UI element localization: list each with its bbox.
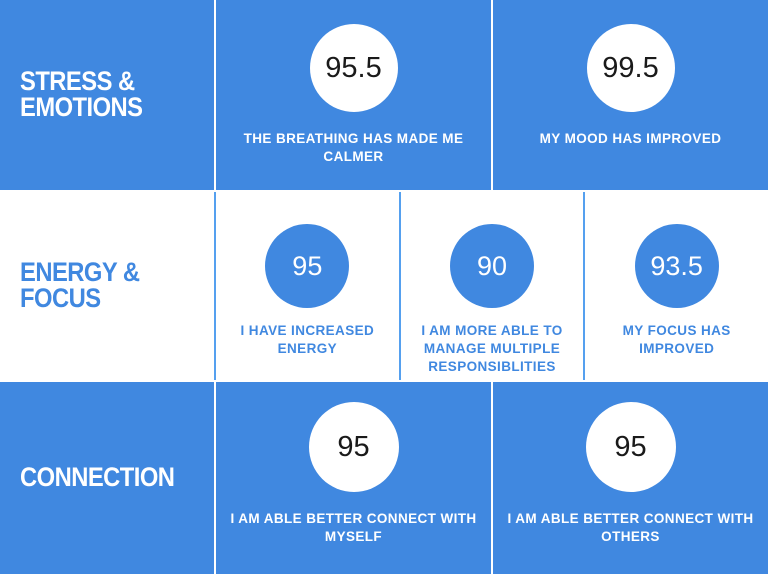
metric-label-focus-improved: MY FOCUS HAS IMPROVED <box>585 322 768 358</box>
metric-circle-connect-others: 95 <box>586 402 676 492</box>
metric-circle-focus-improved: 93.5 <box>635 224 719 308</box>
metric-label-breathing-calmer: THE BREATHING HAS MADE ME CALMER <box>216 130 491 166</box>
metric-card-connect-others: 95 I AM ABLE BETTER CONNECT WITH OTHERS <box>491 382 768 574</box>
metric-value-connect-others: 95 <box>614 433 646 462</box>
metric-card-connect-myself: 95 I AM ABLE BETTER CONNECT WITH MYSELF <box>216 382 491 574</box>
metric-card-increased-energy: 95 I HAVE INCREASED ENERGY <box>216 192 399 380</box>
metric-circle-mood-improved: 99.5 <box>587 24 675 112</box>
section-connection: CONNECTION 95 I AM ABLE BETTER CONNECT W… <box>0 382 768 574</box>
section-title-connection: CONNECTION <box>20 465 174 491</box>
section-energy-focus: ENERGY & FOCUS 95 I HAVE INCREASED ENERG… <box>0 190 768 382</box>
metric-label-increased-energy: I HAVE INCREASED ENERGY <box>216 322 399 358</box>
metric-value-breathing-calmer: 95.5 <box>325 54 381 83</box>
metrics-group-connection: 95 I AM ABLE BETTER CONNECT WITH MYSELF … <box>216 382 768 574</box>
metric-card-mood-improved: 99.5 MY MOOD HAS IMPROVED <box>491 0 768 190</box>
metric-value-mood-improved: 99.5 <box>602 54 658 83</box>
metric-card-focus-improved: 93.5 MY FOCUS HAS IMPROVED <box>583 192 768 380</box>
section-title-energy-focus: ENERGY & FOCUS <box>20 260 139 311</box>
section-stress-emotions: STRESS & EMOTIONS 95.5 THE BREATHING HAS… <box>0 0 768 190</box>
metric-label-connect-myself: I AM ABLE BETTER CONNECT WITH MYSELF <box>216 510 491 546</box>
metric-card-breathing-calmer: 95.5 THE BREATHING HAS MADE ME CALMER <box>216 0 491 190</box>
section-title-cell-connection: CONNECTION <box>0 382 216 574</box>
metric-value-increased-energy: 95 <box>292 253 322 280</box>
metric-value-manage-responsibilities: 90 <box>477 253 507 280</box>
metric-circle-connect-myself: 95 <box>309 402 399 492</box>
metrics-group-energy-focus: 95 I HAVE INCREASED ENERGY 90 I AM MORE … <box>216 192 768 380</box>
section-title-cell-stress-emotions: STRESS & EMOTIONS <box>0 0 216 190</box>
section-title-cell-energy-focus: ENERGY & FOCUS <box>0 192 216 380</box>
metric-circle-increased-energy: 95 <box>265 224 349 308</box>
metric-value-focus-improved: 93.5 <box>650 253 703 280</box>
metric-card-manage-responsibilities: 90 I AM MORE ABLE TO MANAGE MULTIPLE RES… <box>399 192 584 380</box>
metric-circle-breathing-calmer: 95.5 <box>310 24 398 112</box>
section-title-stress-emotions: STRESS & EMOTIONS <box>20 69 143 120</box>
metrics-group-stress-emotions: 95.5 THE BREATHING HAS MADE ME CALMER 99… <box>216 0 768 190</box>
metric-value-connect-myself: 95 <box>337 433 369 462</box>
metric-label-connect-others: I AM ABLE BETTER CONNECT WITH OTHERS <box>493 510 768 546</box>
metric-circle-manage-responsibilities: 90 <box>450 224 534 308</box>
metric-label-manage-responsibilities: I AM MORE ABLE TO MANAGE MULTIPLE RESPON… <box>401 322 584 377</box>
metric-label-mood-improved: MY MOOD HAS IMPROVED <box>524 130 738 148</box>
wellbeing-results-infographic: STRESS & EMOTIONS 95.5 THE BREATHING HAS… <box>0 0 768 576</box>
